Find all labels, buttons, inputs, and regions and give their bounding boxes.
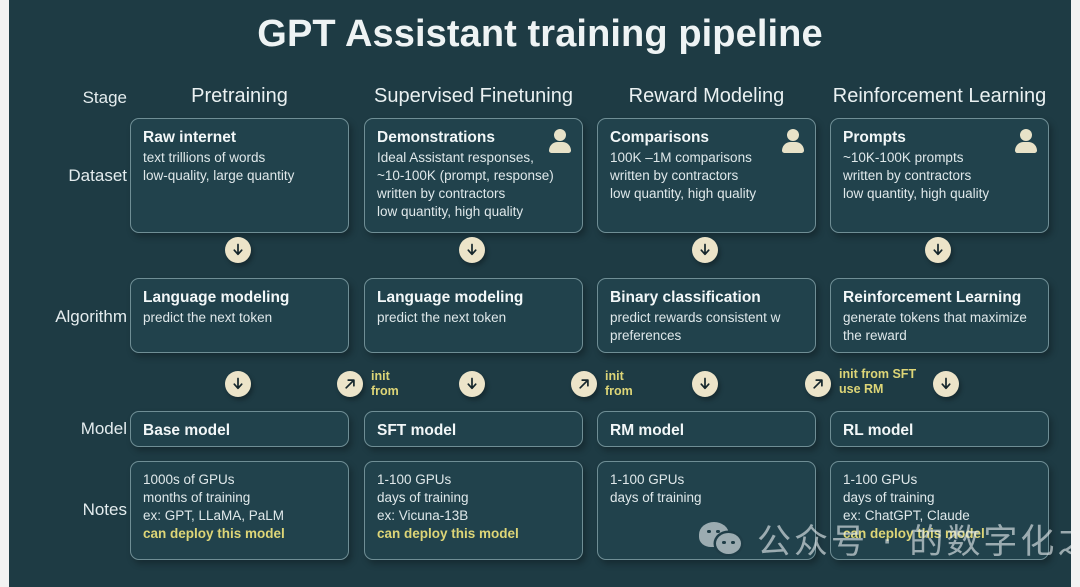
card-line: predict the next token — [377, 309, 571, 327]
card-line: the reward — [843, 327, 1037, 345]
card-line: 1-100 GPUs — [843, 471, 1037, 489]
row-label-algorithm: Algorithm — [15, 307, 127, 327]
model-card-rm-model[interactable]: RM model — [597, 411, 816, 447]
card-heading: RM model — [610, 421, 804, 441]
arrow-down-icon — [225, 237, 251, 263]
algorithm-card-supervised-finetuning[interactable]: Language modeling predict the next token — [364, 278, 583, 353]
arrow-down-icon — [692, 237, 718, 263]
arrow-down-icon — [692, 371, 718, 397]
person-icon — [549, 129, 571, 153]
card-line: ~10-100K (prompt, response) — [377, 167, 571, 185]
card-line: 1-100 GPUs — [610, 471, 804, 489]
card-line: preferences — [610, 327, 804, 345]
card-line: months of training — [143, 489, 337, 507]
arrow-upright-icon — [571, 371, 597, 397]
card-line: 1-100 GPUs — [377, 471, 571, 489]
model-card-base-model[interactable]: Base model — [130, 411, 349, 447]
connector-label-init-from-sft: init from SFTuse RM — [839, 367, 916, 396]
column-header-supervised-finetuning: Supervised Finetuning — [364, 85, 583, 108]
arrow-down-icon — [925, 237, 951, 263]
card-heading: Prompts — [843, 128, 1037, 148]
card-line: low quantity, high quality — [843, 185, 1037, 203]
card-line: ex: ChatGPT, Claude — [843, 507, 1037, 525]
card-line: 100K –1M comparisons — [610, 149, 804, 167]
arrow-down-icon — [225, 371, 251, 397]
connector-label-init-from-1: initfrom — [371, 369, 399, 398]
card-line: written by contractors — [610, 167, 804, 185]
card-line: ~10K-100K prompts — [843, 149, 1037, 167]
notes-highlight: can deploy this model — [377, 525, 571, 543]
notes-card-reward-modeling[interactable]: 1-100 GPUs days of training — [597, 461, 816, 560]
dataset-card-reward-modeling[interactable]: Comparisons 100K –1M comparisons written… — [597, 118, 816, 233]
card-line: predict rewards consistent w — [610, 309, 804, 327]
card-heading: Raw internet — [143, 128, 337, 148]
column-header-reinforcement-learning: Reinforcement Learning — [830, 85, 1049, 108]
card-line: ex: GPT, LLaMA, PaLM — [143, 507, 337, 525]
card-heading: Demonstrations — [377, 128, 571, 148]
arrow-down-icon — [459, 237, 485, 263]
card-line: ex: Vicuna-13B — [377, 507, 571, 525]
person-icon — [782, 129, 804, 153]
dataset-card-reinforcement-learning[interactable]: Prompts ~10K-100K prompts written by con… — [830, 118, 1049, 233]
model-card-rl-model[interactable]: RL model — [830, 411, 1049, 447]
card-line: low quantity, high quality — [377, 203, 571, 221]
notes-card-reinforcement-learning[interactable]: 1-100 GPUs days of training ex: ChatGPT,… — [830, 461, 1049, 560]
card-line: predict the next token — [143, 309, 337, 327]
row-label-notes: Notes — [15, 500, 127, 520]
row-label-dataset: Dataset — [15, 166, 127, 186]
row-label-model: Model — [15, 419, 127, 439]
arrow-down-icon — [459, 371, 485, 397]
arrow-down-icon — [933, 371, 959, 397]
notes-card-supervised-finetuning[interactable]: 1-100 GPUs days of training ex: Vicuna-1… — [364, 461, 583, 560]
card-heading: Language modeling — [377, 288, 571, 308]
card-heading: RL model — [843, 421, 1037, 441]
slide-canvas: GPT Assistant training pipeline Stage Da… — [0, 0, 1080, 587]
card-line: written by contractors — [843, 167, 1037, 185]
card-line: written by contractors — [377, 185, 571, 203]
card-heading: Reinforcement Learning — [843, 288, 1037, 308]
card-line: days of training — [843, 489, 1037, 507]
row-label-stage: Stage — [15, 88, 127, 108]
algorithm-card-pretraining[interactable]: Language modeling predict the next token — [130, 278, 349, 353]
card-line: Ideal Assistant responses, — [377, 149, 571, 167]
card-heading: SFT model — [377, 421, 571, 441]
column-header-reward-modeling: Reward Modeling — [597, 85, 816, 108]
dataset-card-supervised-finetuning[interactable]: Demonstrations Ideal Assistant responses… — [364, 118, 583, 233]
card-heading: Language modeling — [143, 288, 337, 308]
card-line: generate tokens that maximize — [843, 309, 1037, 327]
card-line: days of training — [377, 489, 571, 507]
arrow-upright-icon — [337, 371, 363, 397]
connector-label-init-from-2: initfrom — [605, 369, 633, 398]
notes-card-pretraining[interactable]: 1000s of GPUs months of training ex: GPT… — [130, 461, 349, 560]
dataset-card-pretraining[interactable]: Raw internet text trillions of words low… — [130, 118, 349, 233]
card-heading: Binary classification — [610, 288, 804, 308]
arrow-upright-icon — [805, 371, 831, 397]
algorithm-card-reinforcement-learning[interactable]: Reinforcement Learning generate tokens t… — [830, 278, 1049, 353]
notes-highlight: can deploy this model — [843, 525, 1037, 543]
page-title: GPT Assistant training pipeline — [9, 13, 1071, 56]
person-icon — [1015, 129, 1037, 153]
card-line: 1000s of GPUs — [143, 471, 337, 489]
card-line: low-quality, large quantity — [143, 167, 337, 185]
model-card-sft-model[interactable]: SFT model — [364, 411, 583, 447]
card-line: text trillions of words — [143, 149, 337, 167]
algorithm-card-reward-modeling[interactable]: Binary classification predict rewards co… — [597, 278, 816, 353]
card-heading: Comparisons — [610, 128, 804, 148]
card-heading: Base model — [143, 421, 337, 441]
column-header-pretraining: Pretraining — [130, 85, 349, 108]
notes-highlight: can deploy this model — [143, 525, 337, 543]
card-line: low quantity, high quality — [610, 185, 804, 203]
card-line: days of training — [610, 489, 804, 507]
